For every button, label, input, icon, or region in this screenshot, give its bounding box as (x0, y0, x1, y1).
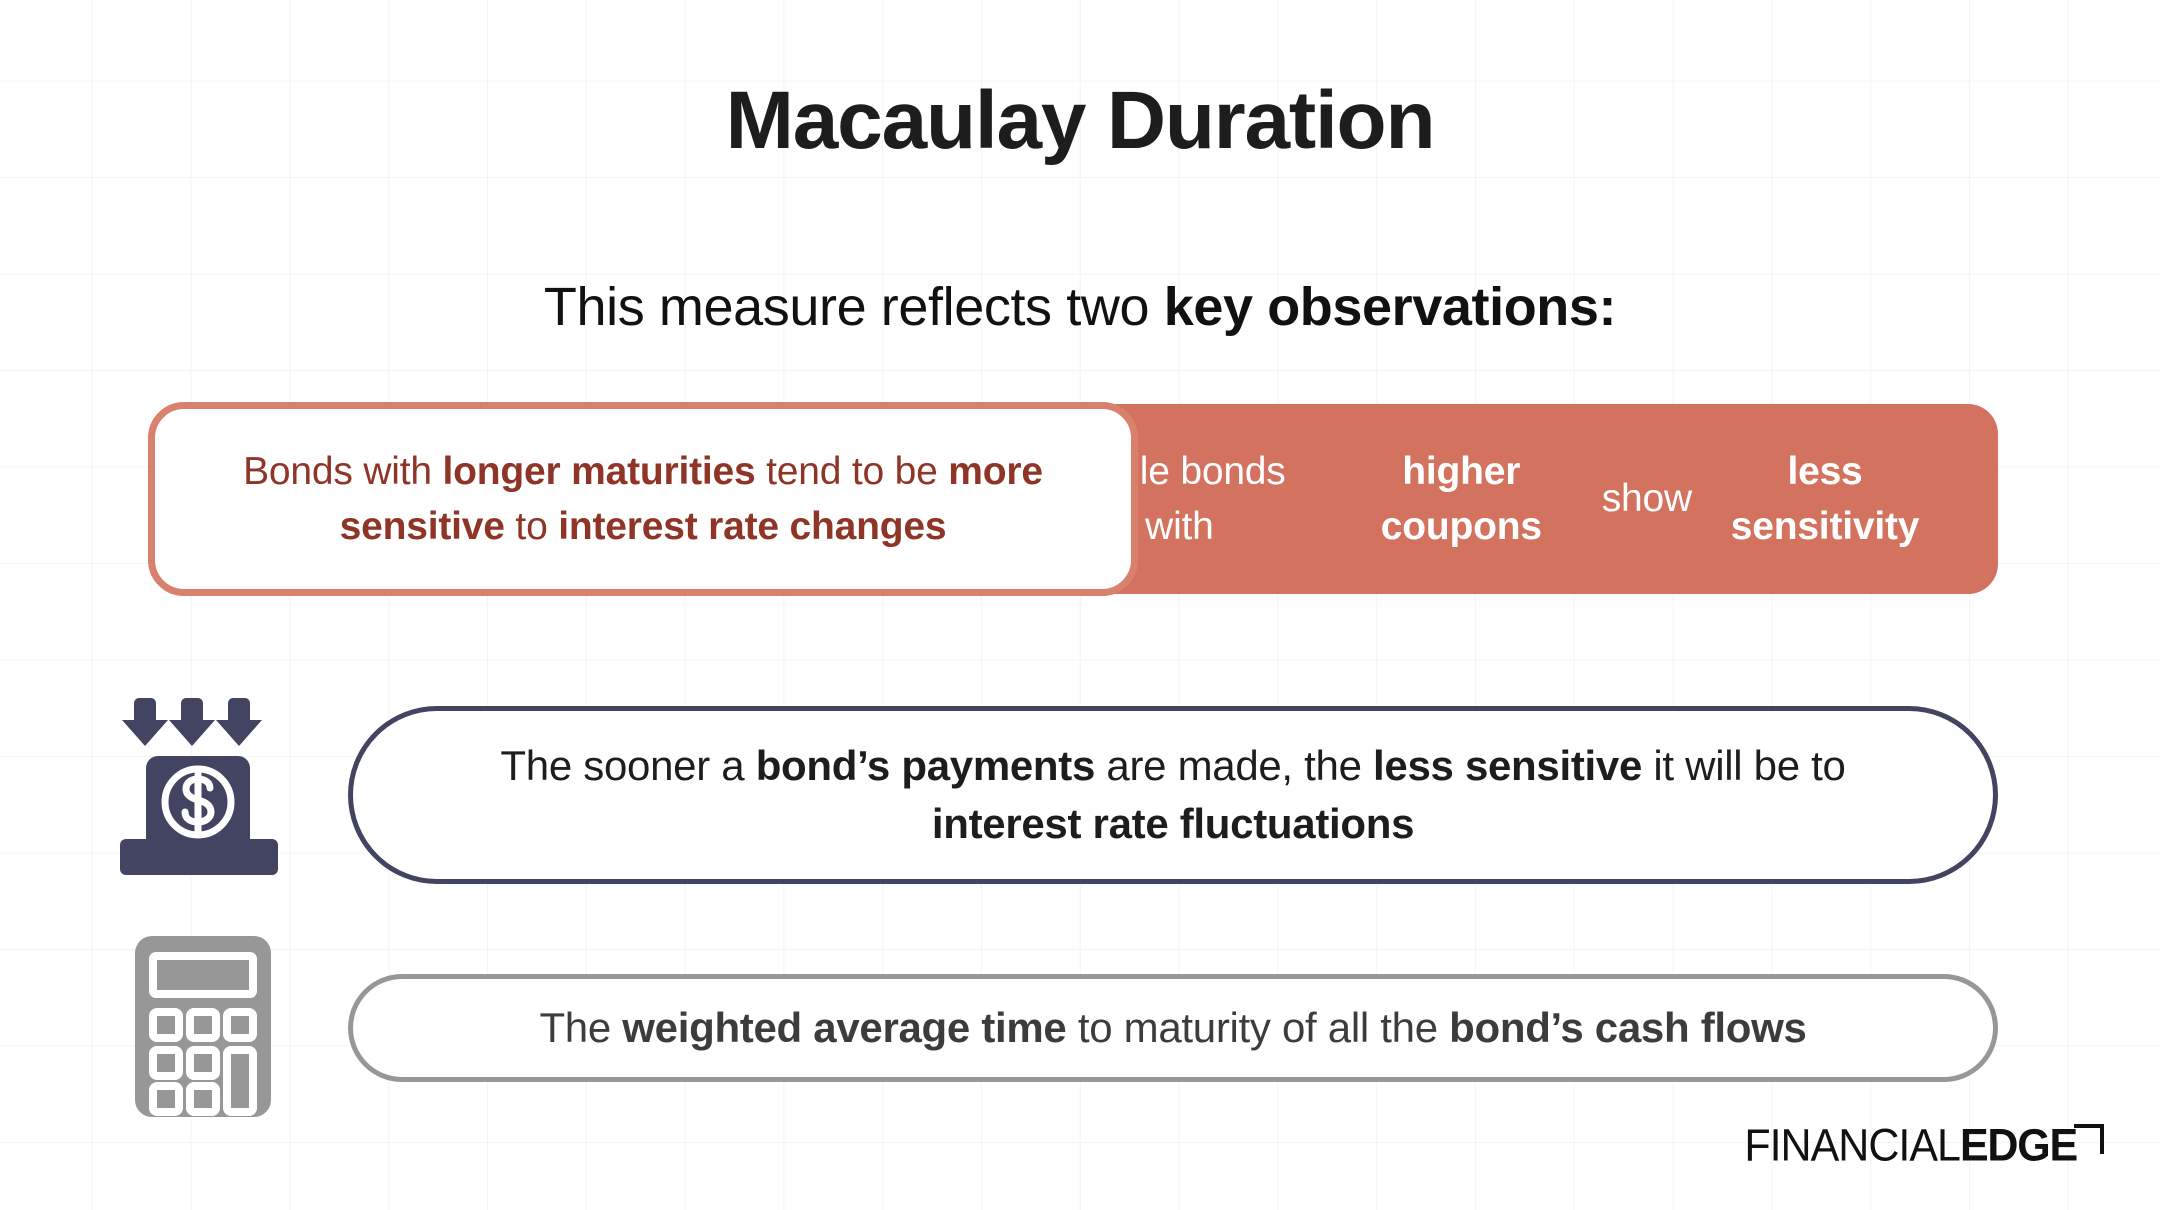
right-seg2: higher coupons (1321, 444, 1602, 555)
left-seg1: Bonds with (243, 450, 442, 493)
p1-seg1: The sooner a (500, 742, 755, 789)
money-box-incoming-payments-icon (120, 698, 286, 884)
observation-card-left-text: Bonds with longer maturities tend to be … (189, 444, 1097, 555)
p2-seg2: weighted average time (622, 1004, 1066, 1051)
logo-word-financial: FINANCIAL (1744, 1124, 1960, 1169)
observation-card-left: Bonds with longer maturities tend to be … (148, 402, 1138, 596)
key-observations-row: While bonds with higher coupons show les… (150, 404, 1998, 594)
point-pill-2: The weighted average time to maturity of… (348, 974, 1998, 1082)
p1-seg4: less sensitive (1373, 742, 1642, 789)
point-row-1: The sooner a bond’s payments are made, t… (0, 706, 2160, 896)
point-pill-1: The sooner a bond’s payments are made, t… (348, 706, 1998, 884)
point-1-text: The sooner a bond’s payments are made, t… (423, 737, 1923, 853)
p1-seg2: bond’s payments (756, 742, 1095, 789)
calculator-icon (133, 934, 273, 1119)
p1-seg3: are made, the (1095, 742, 1373, 789)
subtitle: This measure reflects two key observatio… (0, 278, 2160, 337)
left-seg5: to (505, 505, 558, 548)
financial-edge-logo: FINANCIAL EDGE (1744, 1116, 2100, 1168)
point-row-2: The weighted average time to maturity of… (0, 974, 2160, 1104)
left-seg6: interest rate changes (558, 505, 946, 548)
p1-seg5: it will be to (1642, 742, 1846, 789)
left-seg3: tend to be (756, 450, 949, 493)
right-seg4: less sensitivity (1692, 444, 1958, 555)
corner-bracket-icon (2074, 1124, 2100, 1150)
subtitle-bold: key observations: (1164, 277, 1616, 337)
left-seg2: longer maturities (443, 450, 756, 493)
p2-seg4: bond’s cash flows (1449, 1004, 1806, 1051)
slide-canvas: Macaulay Duration This measure reflects … (0, 0, 2160, 1210)
p2-seg1: The (539, 1004, 622, 1051)
point-2-text: The weighted average time to maturity of… (539, 1001, 1806, 1056)
page-title: Macaulay Duration (0, 78, 2160, 164)
subtitle-plain: This measure reflects two (544, 277, 1164, 337)
observation-card-right-text: While bonds with higher coupons show les… (998, 404, 1998, 594)
logo-word-edge: EDGE (1960, 1124, 2077, 1169)
p1-seg6: interest rate fluctuations (932, 800, 1414, 847)
p2-seg3: to maturity of all the (1067, 1004, 1450, 1051)
right-seg3: show (1602, 471, 1692, 526)
